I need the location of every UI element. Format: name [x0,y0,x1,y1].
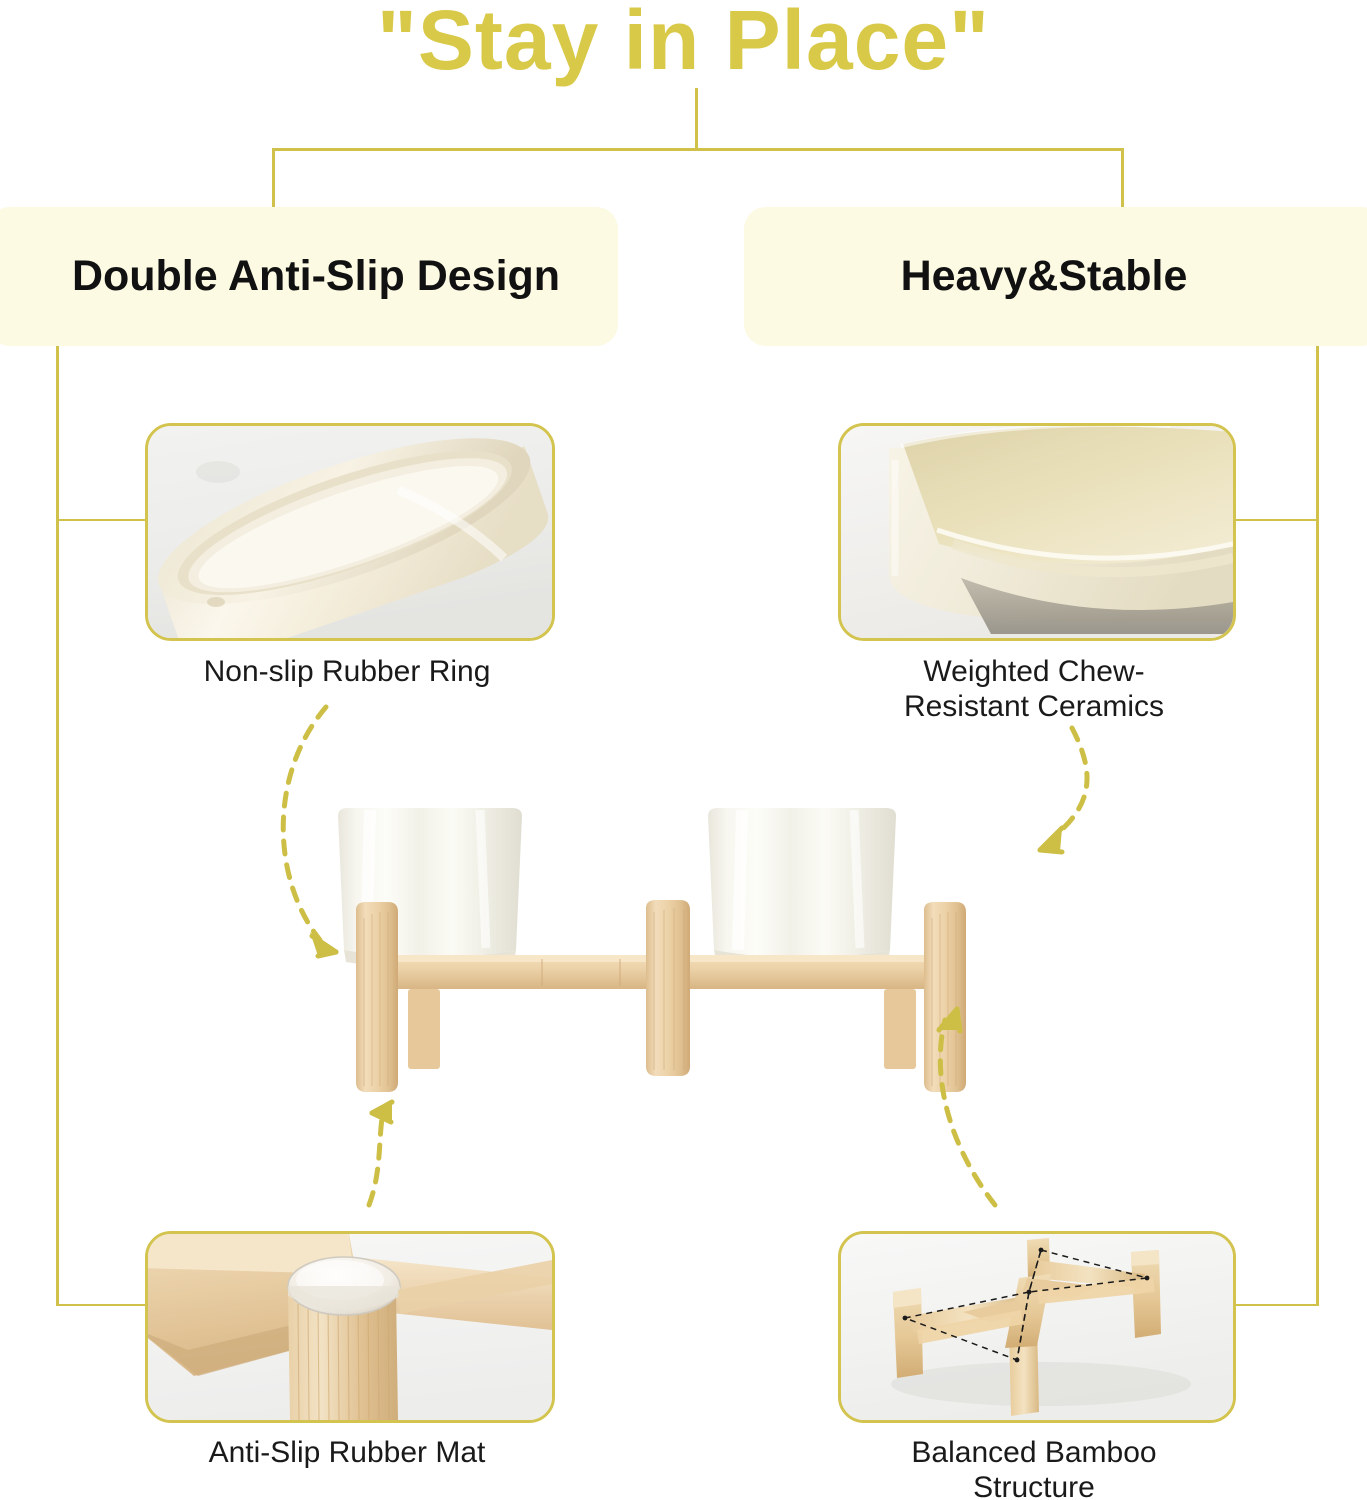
panel-caption-balanced-bamboo-structure: Balanced Bamboo Structure [838,1436,1230,1500]
panel-caption-anti-slip-rubber-mat: Anti-Slip Rubber Mat [145,1436,549,1471]
header-label-right: Heavy&Stable [901,252,1228,301]
connector-right-to-top-panel [1228,519,1319,521]
connector-to-left-header [272,148,275,210]
panel-caption-weighted-chew-resistant-ceramics: Weighted Chew- Resistant Ceramics [838,655,1230,724]
arrow-rubber-mat-to-leg [369,1112,383,1205]
header-box-double-anti-slip-design: Double Anti-Slip Design [0,207,618,346]
photo-panel-balanced-bamboo-structure [838,1231,1236,1423]
weighted-chew-resistant-ceramics-image [841,426,1233,638]
arrowhead-rubber-mat [372,1100,392,1120]
photo-panel-weighted-chew-resistant-ceramics [838,423,1236,641]
photo-panel-anti-slip-rubber-mat [145,1231,555,1423]
connector-left-spine [56,346,59,1306]
connector-title-bar [272,148,1124,151]
non-slip-rubber-ring-image [148,426,552,638]
arrow-rubber-ring-to-bowl [283,707,326,940]
hero-product-image [330,800,1030,1100]
arrowhead-ceramics [1040,828,1062,852]
connector-to-right-header [1121,148,1124,210]
infographic-root: "Stay in Place" Double Anti-Slip Design … [0,0,1367,1500]
header-box-heavy-stable: Heavy&Stable [744,207,1367,346]
right-bowl [708,808,896,969]
balanced-bamboo-structure-image [841,1234,1233,1420]
page-title: "Stay in Place" [0,0,1367,89]
double-bowl-bamboo-stand-illustration [330,800,1030,1100]
connector-left-to-bottom-panel [56,1304,148,1306]
anti-slip-rubber-mat-image [148,1234,552,1420]
stand-leg-left [356,902,398,1092]
connector-left-to-top-panel [56,519,148,521]
stand-leg-right [924,902,966,1092]
header-label-left: Double Anti-Slip Design [46,252,560,301]
arrow-ceramics-to-bowl [1050,728,1087,840]
connector-right-to-bottom-panel [1228,1304,1319,1306]
stand-leg-center [646,900,690,1076]
connector-right-spine [1316,346,1319,1306]
connector-title-stem [695,88,698,150]
photo-panel-non-slip-rubber-ring [145,423,555,641]
panel-caption-non-slip-rubber-ring: Non-slip Rubber Ring [145,655,549,690]
